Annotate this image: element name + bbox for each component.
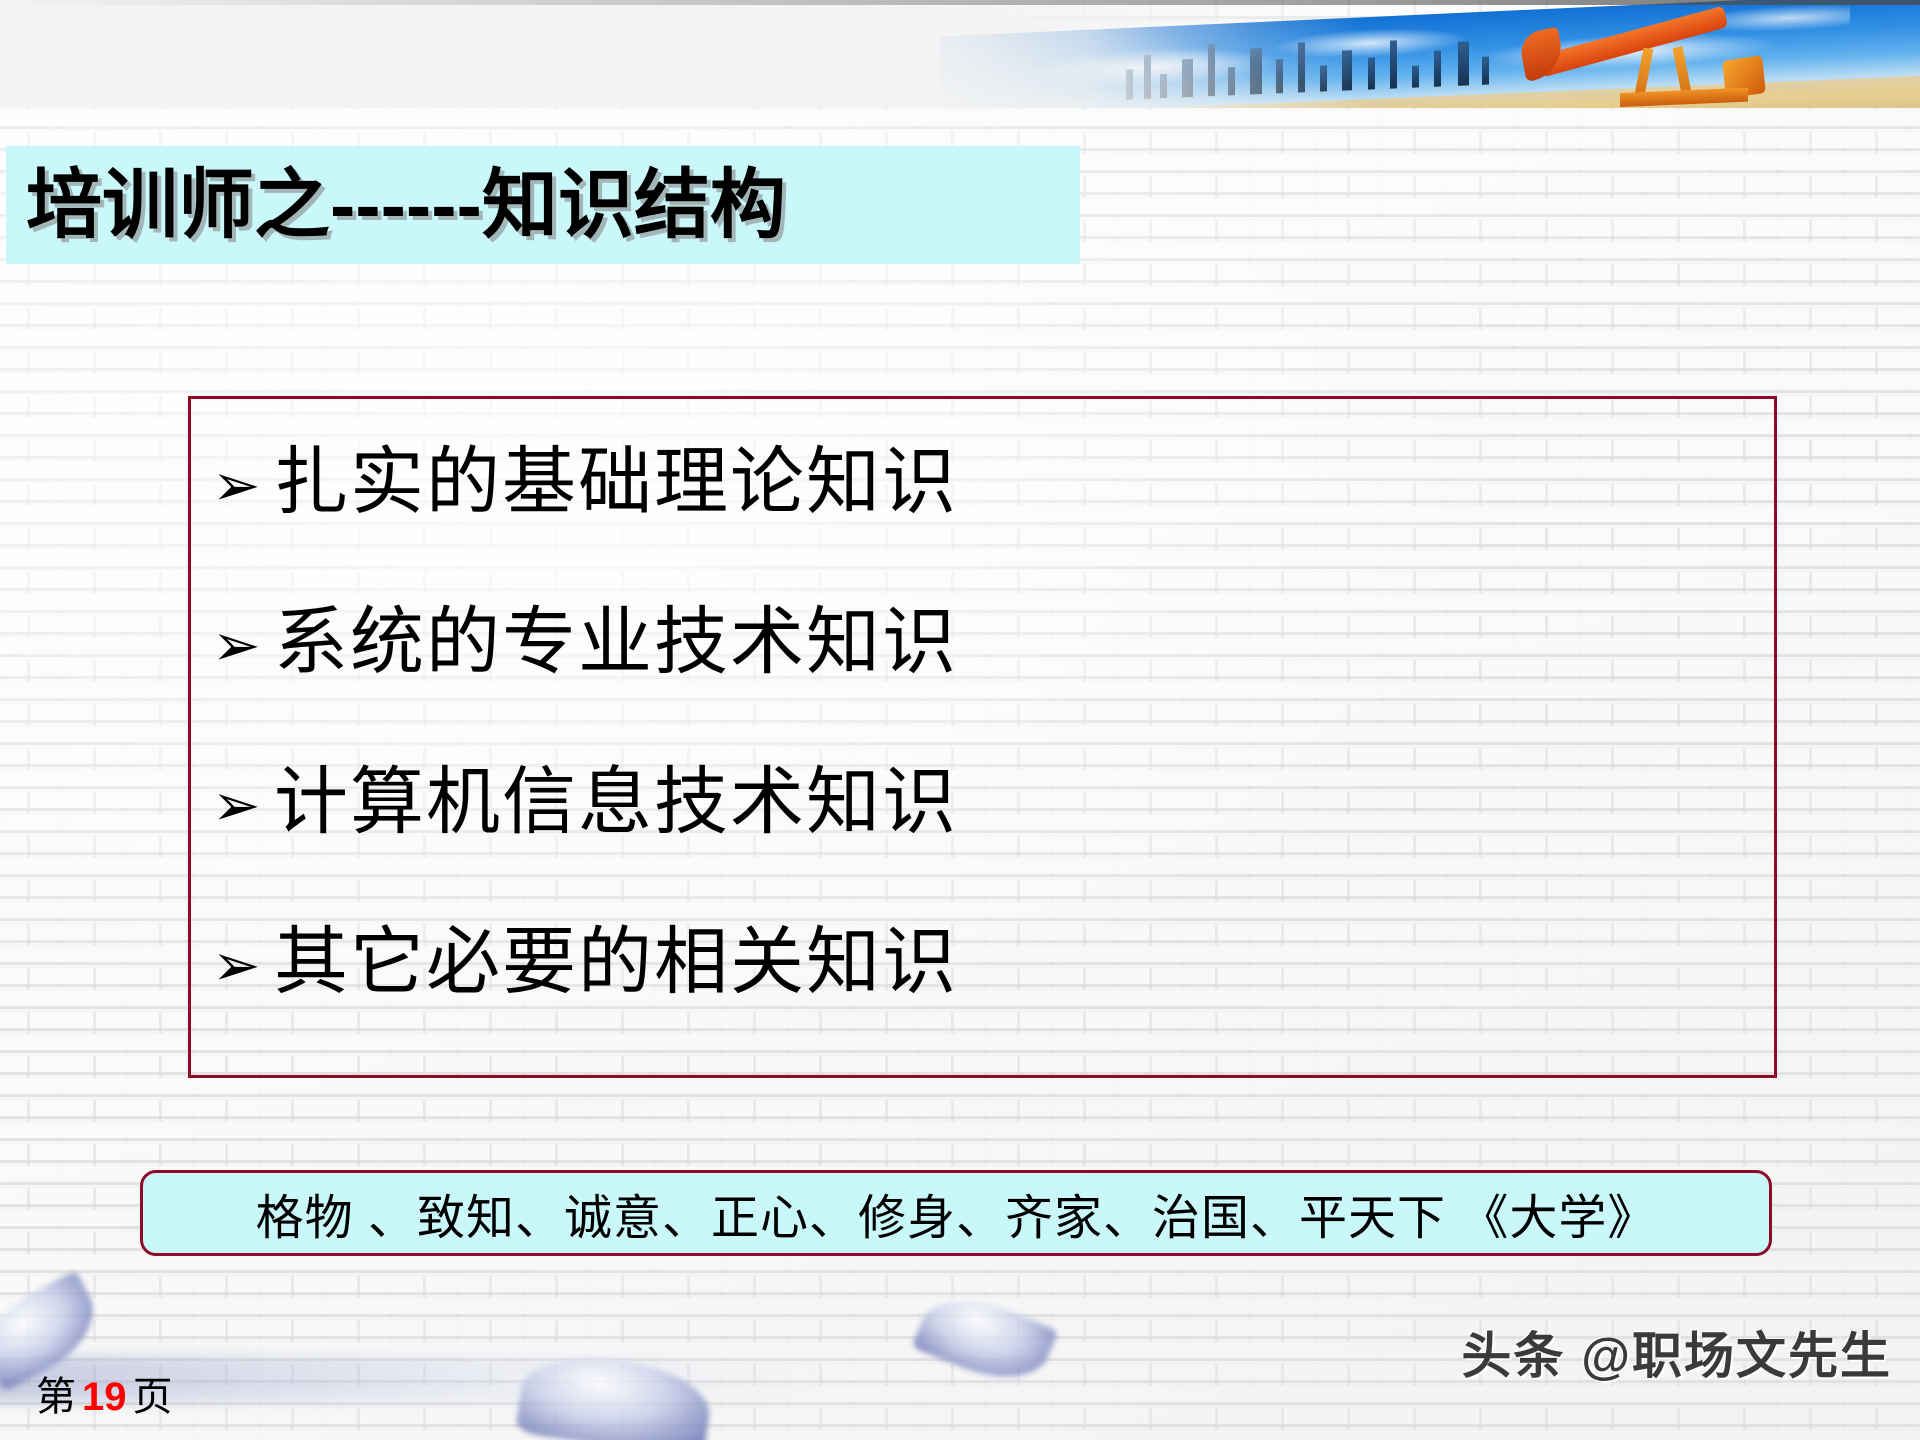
slide-canvas: 培训师之------知识结构 ➢ 扎实的基础理论知识 ➢ 系统的专业技术知识 ➢… — [0, 0, 1920, 1440]
page-suffix-label: 页 — [133, 1374, 173, 1419]
list-item-label: 系统的专业技术知识 — [274, 590, 958, 694]
arrow-bullet-icon: ➢ — [212, 754, 270, 858]
page-prefix-label: 第 — [36, 1374, 76, 1419]
arrow-bullet-icon: ➢ — [212, 434, 270, 538]
author-watermark: 头条 @职场文先生 — [1461, 1316, 1892, 1388]
list-item-label: 扎实的基础理论知识 — [274, 430, 958, 534]
arrow-bullet-icon: ➢ — [212, 914, 270, 1018]
list-item: ➢ 其它必要的相关知识 — [212, 910, 1732, 1070]
arrow-bullet-icon: ➢ — [212, 594, 270, 698]
list-item: ➢ 计算机信息技术知识 — [212, 750, 1732, 910]
banner-diagonal-fade — [0, 0, 1920, 108]
list-item: ➢ 系统的专业技术知识 — [212, 590, 1732, 750]
page-number-value: 19 — [76, 1375, 133, 1419]
banner-top-edge-line — [0, 0, 1920, 5]
knowledge-bullet-list: ➢ 扎实的基础理论知识 ➢ 系统的专业技术知识 ➢ 计算机信息技术知识 ➢ 其它… — [212, 430, 1732, 1070]
page-title: 培训师之------知识结构 — [26, 154, 1086, 258]
list-item-label: 计算机信息技术知识 — [274, 750, 958, 854]
page-number-footer: 第19页 — [36, 1364, 173, 1422]
list-item: ➢ 扎实的基础理论知识 — [212, 430, 1732, 590]
header-banner-image — [0, 0, 1920, 108]
quote-callout-box: 格物 、致知、诚意、正心、修身、齐家、治国、平天下 《大学》 — [140, 1170, 1772, 1256]
quote-text: 格物 、致知、诚意、正心、修身、齐家、治国、平天下 《大学》 — [256, 1178, 1657, 1248]
list-item-label: 其它必要的相关知识 — [274, 910, 958, 1014]
